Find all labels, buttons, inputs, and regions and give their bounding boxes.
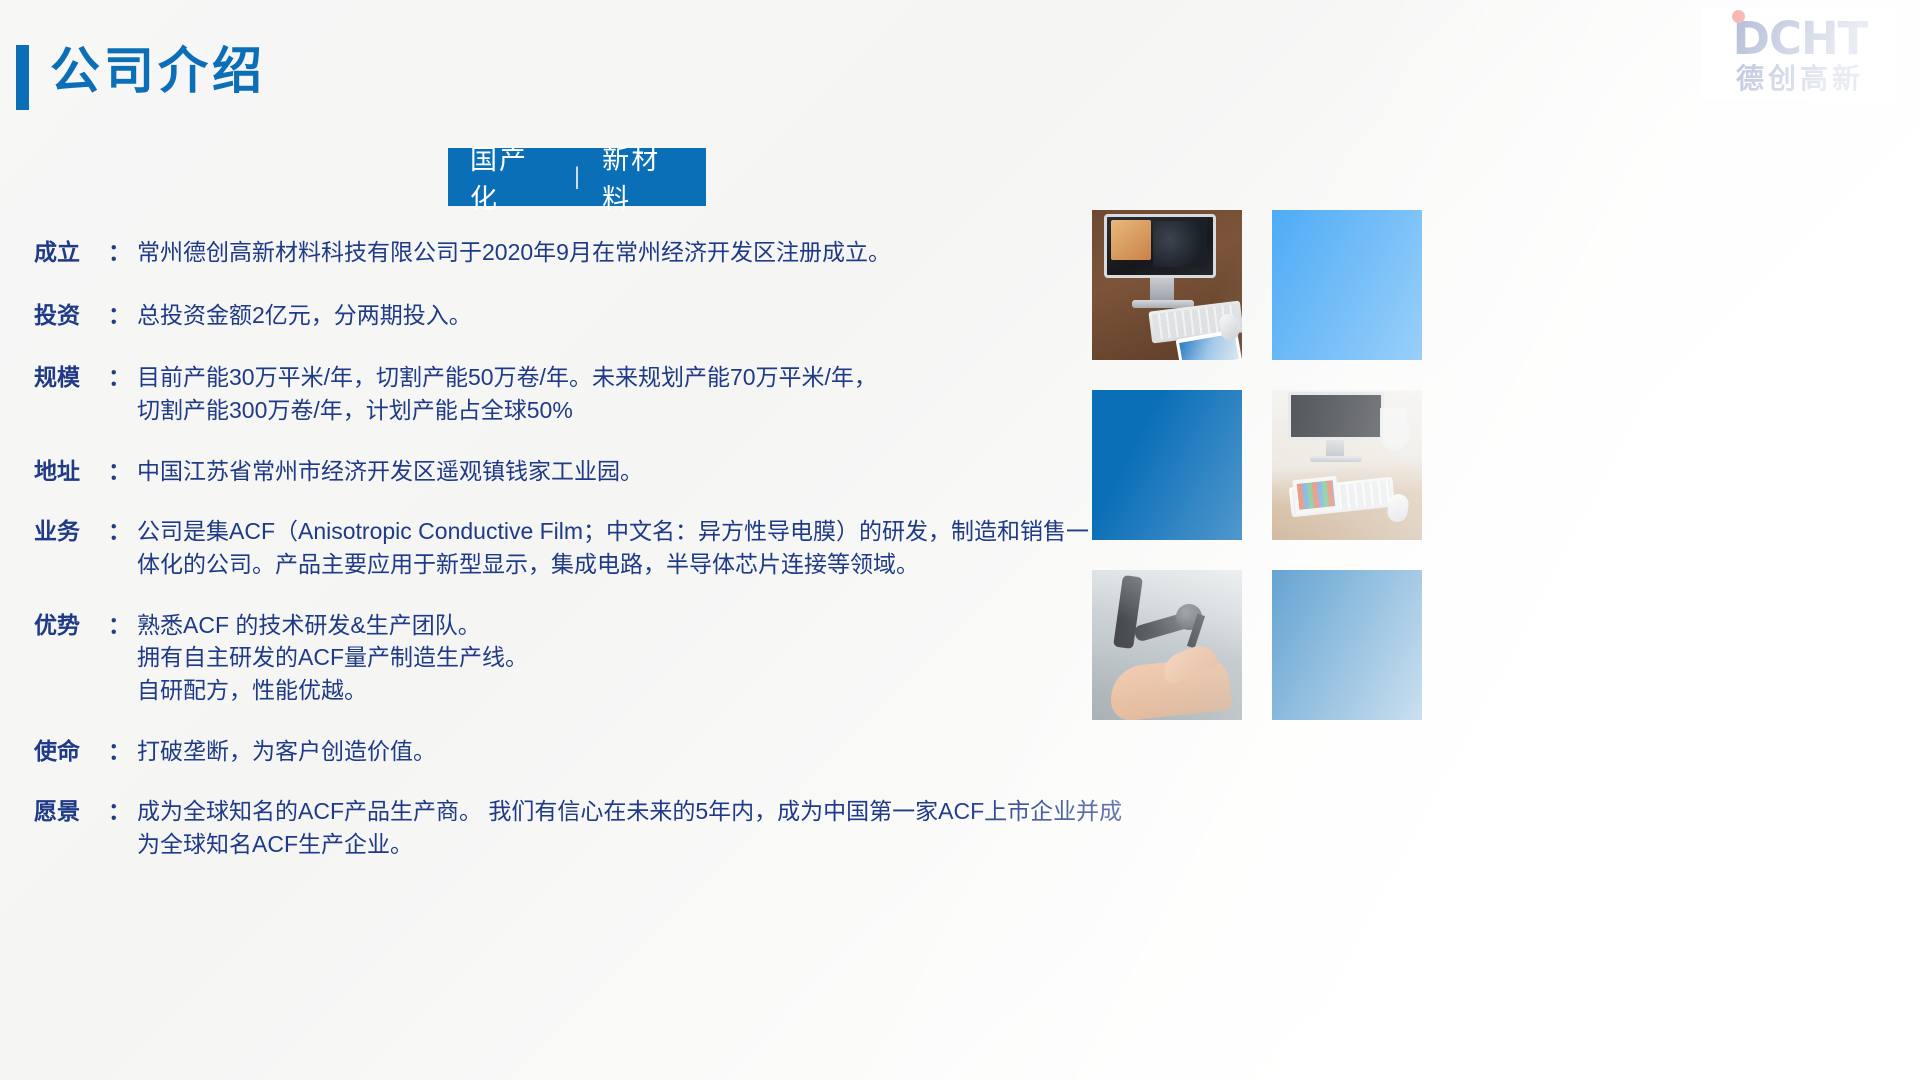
info-value: 打破垄断，为客户创造价值。 [137, 735, 1094, 768]
info-line: 自研配方，性能优越。 [137, 674, 1094, 707]
info-line: 公司是集ACF（Anisotropic Conductive Film；中文名：… [137, 515, 1094, 548]
logo-chinese-name: 德创高新 [1736, 65, 1864, 93]
blue-block [1092, 390, 1242, 540]
info-label: 优势 [34, 609, 108, 642]
page-title: 公司介绍 [50, 38, 266, 106]
info-row-mission: 使命 ： 打破垄断，为客户创造价值。 [34, 735, 1094, 768]
info-colon: ： [108, 299, 137, 332]
info-label: 投资 [34, 299, 108, 332]
tagline-badge: 国产化 | 新材料 [448, 148, 706, 206]
info-colon: ： [108, 515, 137, 548]
info-line: 总投资金额2亿元，分两期投入。 [137, 299, 1094, 332]
info-colon: ： [108, 795, 137, 828]
info-line: 常州德创高新材料科技有限公司于2020年9月在常州经济开发区注册成立。 [137, 236, 1094, 269]
badge-label-right: 新材料 [580, 138, 706, 216]
info-line: 体化的公司。产品主要应用于新型显示，集成电路，半导体芯片连接等领域。 [137, 548, 1094, 581]
glass-shape [1380, 408, 1410, 450]
info-colon: ： [108, 236, 137, 269]
info-row-establishment: 成立 ： 常州德创高新材料科技有限公司于2020年9月在常州经济开发区注册成立。 [34, 236, 1094, 269]
info-label: 使命 [34, 735, 108, 768]
info-value: 常州德创高新材料科技有限公司于2020年9月在常州经济开发区注册成立。 [137, 236, 1094, 269]
info-line: 熟悉ACF 的技术研发&生产团队。 [137, 609, 1094, 642]
info-row-business: 业务 ： 公司是集ACF（Anisotropic Conductive Film… [34, 515, 1094, 580]
info-row-address: 地址 ： 中国江苏省常州市经济开发区遥观镇钱家工业园。 [34, 455, 1094, 488]
info-label: 业务 [34, 515, 108, 548]
red-dot-icon [1732, 10, 1745, 23]
blue-block [1272, 570, 1422, 720]
info-colon: ： [108, 609, 137, 642]
image-gallery [1092, 210, 1422, 720]
info-row-vision: 愿景 ： 成为全球知名的ACF产品生产商。 我们有信心在未来的5年内，成为中国第… [34, 795, 1094, 860]
info-row-investment: 投资 ： 总投资金额2亿元，分两期投入。 [34, 299, 1094, 332]
calculator-shape [1292, 476, 1339, 514]
badge-label-left: 国产化 [448, 138, 574, 216]
company-info-list: 成立 ： 常州德创高新材料科技有限公司于2020年9月在常州经济开发区注册成立。… [34, 236, 1094, 861]
photo-robot-hand [1092, 570, 1242, 720]
light-blue-block [1272, 210, 1422, 360]
info-line: 打破垄断，为客户创造价值。 [137, 735, 1094, 768]
info-colon: ： [108, 735, 137, 768]
info-colon: ： [108, 455, 137, 488]
info-label: 地址 [34, 455, 108, 488]
info-line: 中国江苏省常州市经济开发区遥观镇钱家工业园。 [137, 455, 1094, 488]
mouse-shape [1386, 493, 1410, 524]
info-line: 切割产能300万卷/年，计划产能占全球50% [137, 394, 1094, 427]
monitor-shape [1288, 392, 1384, 440]
info-value: 公司是集ACF（Anisotropic Conductive Film；中文名：… [137, 515, 1094, 580]
monitor-shape [1104, 214, 1216, 278]
info-line: 成为全球知名的ACF产品生产商。 我们有信心在未来的5年内，成为中国第一家ACF… [137, 795, 1122, 828]
info-label: 规模 [34, 361, 108, 394]
info-line: 拥有自主研发的ACF量产制造生产线。 [137, 641, 1094, 674]
info-row-advantages: 优势 ： 熟悉ACF 的技术研发&生产团队。 拥有自主研发的ACF量产制造生产线… [34, 609, 1094, 707]
info-label: 成立 [34, 236, 108, 269]
info-line: 目前产能30万平米/年，切割产能50万卷/年。未来规划产能70万平米/年， [137, 361, 1094, 394]
photo-imac-desk [1092, 210, 1242, 360]
title-accent-bar [16, 45, 29, 110]
monitor-base-shape [1310, 456, 1362, 462]
company-logo: DCHT 德创高新 [1702, 8, 1898, 100]
info-value: 成为全球知名的ACF产品生产商。 我们有信心在未来的5年内，成为中国第一家ACF… [137, 795, 1122, 860]
info-value: 熟悉ACF 的技术研发&生产团队。 拥有自主研发的ACF量产制造生产线。 自研配… [137, 609, 1094, 707]
info-row-scale: 规模 ： 目前产能30万平米/年，切割产能50万卷/年。未来规划产能70万平米/… [34, 361, 1094, 426]
info-value: 中国江苏省常州市经济开发区遥观镇钱家工业园。 [137, 455, 1094, 488]
info-line: 为全球知名ACF生产企业。 [137, 828, 1122, 861]
photo-office-desk [1272, 390, 1422, 540]
info-colon: ： [108, 361, 137, 394]
info-value: 总投资金额2亿元，分两期投入。 [137, 299, 1094, 332]
slide-canvas: 公司介绍 DCHT 德创高新 国产化 | 新材料 成立 ： 常州德创高新材料科技… [0, 0, 1920, 1080]
monitor-stand-shape [1150, 278, 1174, 302]
info-value: 目前产能30万平米/年，切割产能50万卷/年。未来规划产能70万平米/年， 切割… [137, 361, 1094, 426]
light-sheen-overlay [1092, 570, 1242, 720]
logo-wordmark: DCHT [1733, 16, 1868, 61]
info-label: 愿景 [34, 795, 108, 828]
